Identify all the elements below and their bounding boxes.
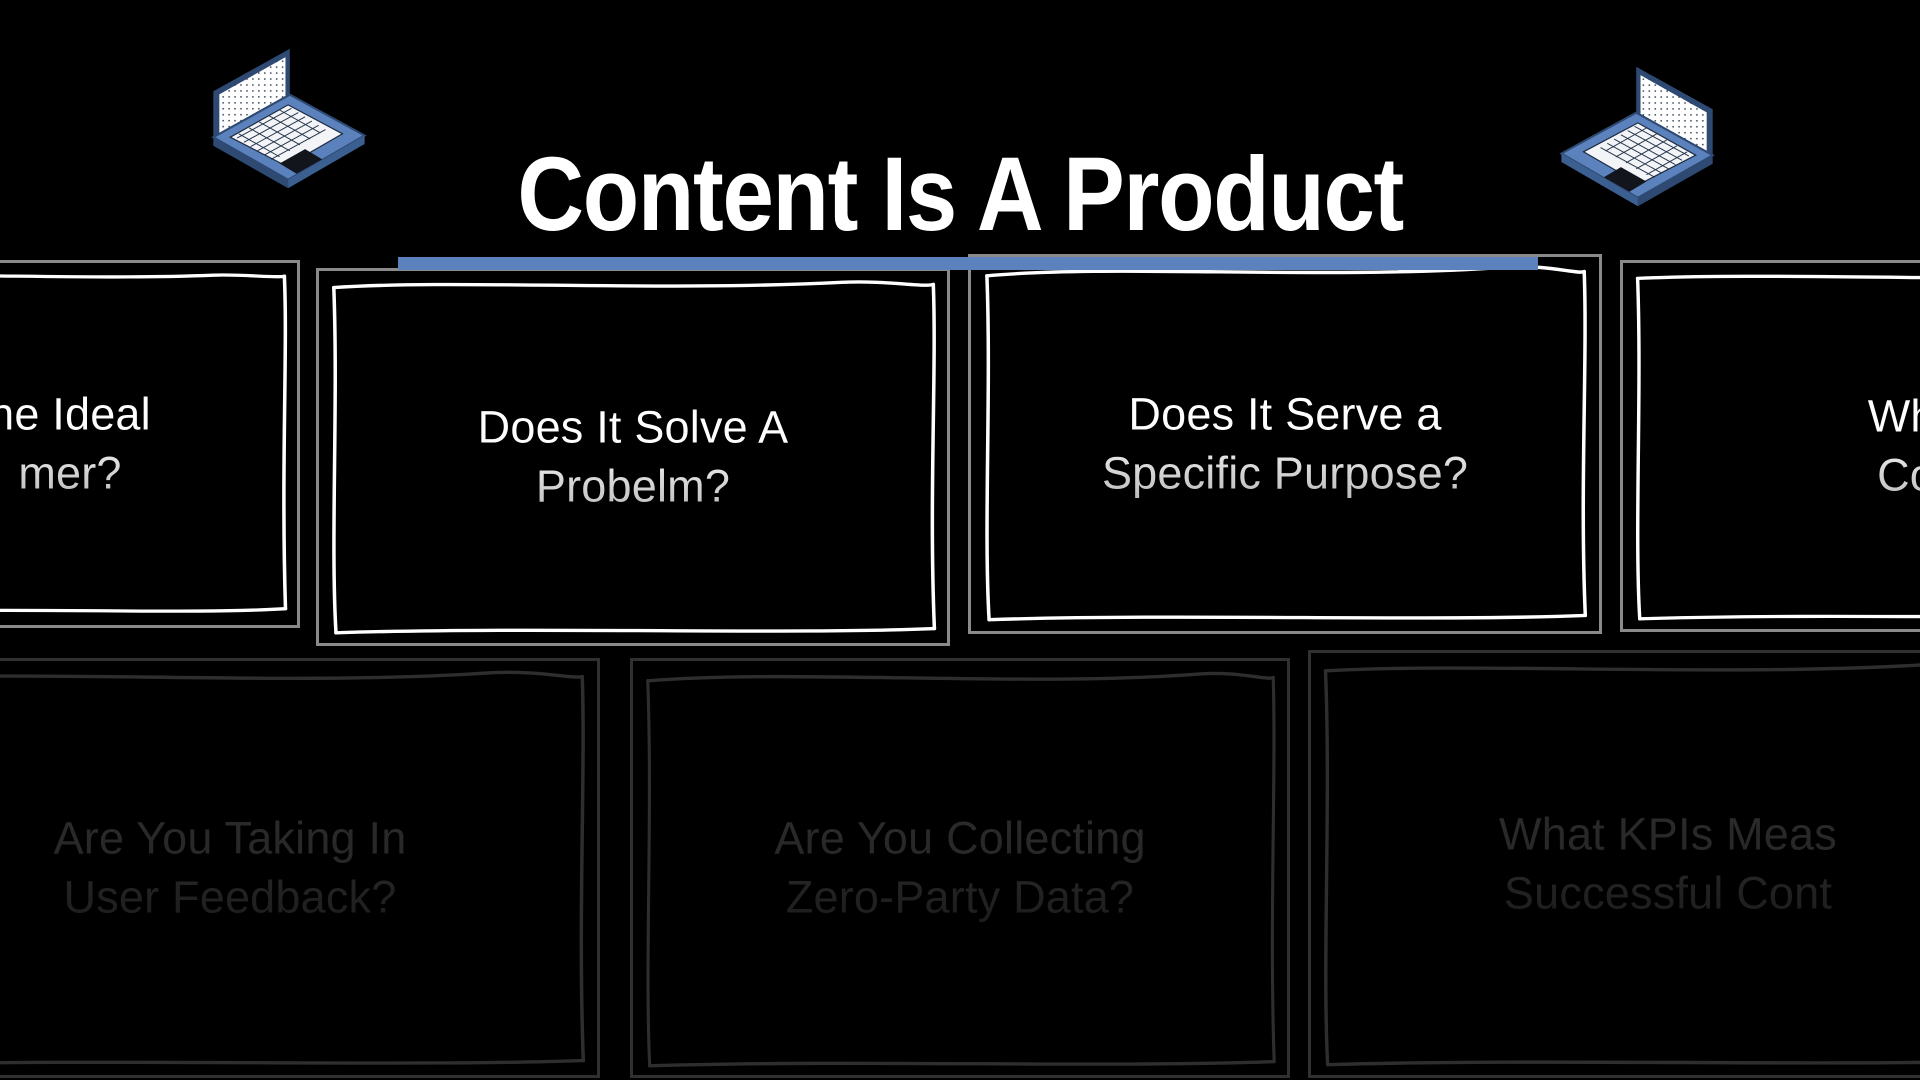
card-label: Does It Serve a Specific Purpose? <box>1012 386 1557 503</box>
laptop-icon <box>1558 60 1728 230</box>
card-kpis-measure[interactable]: What KPIs Meas Successful Cont <box>1308 650 1920 1078</box>
card-label: Are You Taking In User Feedback? <box>0 810 548 927</box>
card-label: he Ideal mer? <box>0 386 268 503</box>
page-title: Content Is A Product <box>517 142 1403 247</box>
card-grid: he Ideal mer? Does It Solve A Prob <box>0 252 1920 1080</box>
card-label: What KPIs Meas Successful Cont <box>1358 806 1920 923</box>
card-ideal-customer[interactable]: he Ideal mer? <box>0 260 300 628</box>
card-solve-problem[interactable]: Does It Solve A Probelm? <box>316 268 950 646</box>
card-specific-purpose[interactable]: Does It Serve a Specific Purpose? <box>968 254 1602 634</box>
card-label: Does It Solve A Probelm? <box>360 399 905 516</box>
card-label: Are You Collecting Zero-Party Data? <box>676 810 1244 927</box>
slide-canvas: Content Is A Product <box>0 0 1920 1080</box>
card-zero-party-data[interactable]: Are You Collecting Zero-Party Data? <box>630 658 1290 1078</box>
title-underline-bar <box>398 257 1538 270</box>
slide-header: Content Is A Product <box>0 0 1920 252</box>
card-label: Who's Cons <box>1663 388 1920 505</box>
card-user-feedback[interactable]: Are You Taking In User Feedback? <box>0 658 600 1078</box>
card-whos-consuming[interactable]: Who's Cons <box>1620 260 1920 632</box>
